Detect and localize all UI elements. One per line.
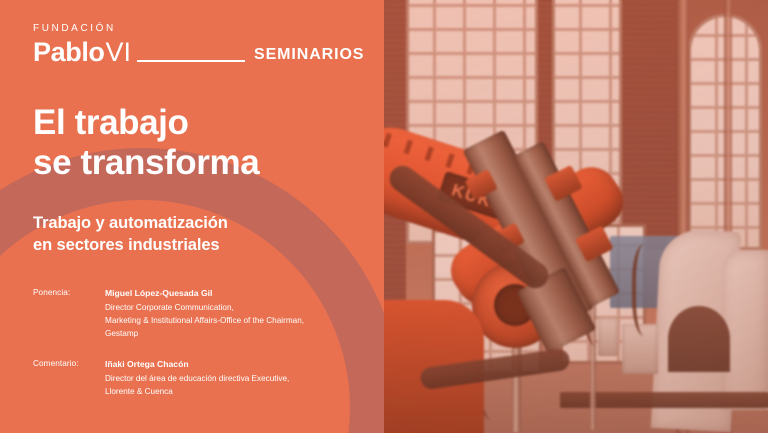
brand-logo-lockup: FUNDACIÓN Pablo VI SEMINARIOS bbox=[33, 24, 368, 66]
credits-section: Ponencia: Miguel López-Quesada Gil Direc… bbox=[33, 287, 370, 415]
credit-speaker-name: Iñaki Ortega Chacón bbox=[105, 358, 370, 371]
credit-detail-line: Llorente & Cuenca bbox=[105, 385, 370, 398]
poster-content: FUNDACIÓN Pablo VI SEMINARIOS El trabajo… bbox=[0, 0, 384, 433]
credit-speaker-name: Miguel López-Quesada Gil bbox=[105, 287, 370, 300]
credit-detail-line: Gestamp bbox=[105, 327, 370, 340]
logo-vi-text: VI bbox=[106, 39, 132, 66]
credit-detail-line: Marketing & Institutional Affairs-Office… bbox=[105, 314, 370, 327]
poster-photo-panel: KUKA bbox=[384, 0, 768, 433]
credit-entry-ponencia: Ponencia: Miguel López-Quesada Gil Direc… bbox=[33, 287, 370, 341]
wheel-arch-shadow bbox=[668, 306, 730, 372]
logo-pablo-text: Pablo bbox=[33, 39, 105, 66]
credit-detail-line: Director Corporate Communication, bbox=[105, 301, 370, 314]
credit-entry-comentario: Comentario: Iñaki Ortega Chacón Director… bbox=[33, 358, 370, 398]
logo-divider-rule bbox=[137, 60, 245, 62]
poster-headline: El trabajo se transforma bbox=[33, 103, 259, 183]
credit-detail-line: Director del área de educación directiva… bbox=[105, 372, 370, 385]
logo-fundacion-label: FUNDACIÓN bbox=[33, 24, 368, 34]
factory-photo: KUKA bbox=[384, 0, 768, 433]
credit-body-comentario: Iñaki Ortega Chacón Director del área de… bbox=[105, 358, 370, 398]
credit-label-ponencia: Ponencia: bbox=[33, 287, 105, 300]
seminar-poster: FUNDACIÓN Pablo VI SEMINARIOS El trabajo… bbox=[0, 0, 768, 433]
section-label-seminarios: SEMINARIOS bbox=[254, 47, 364, 63]
credit-body-ponencia: Miguel López-Quesada Gil Director Corpor… bbox=[105, 287, 370, 341]
poster-subtitle: Trabajo y automatización en sectores ind… bbox=[33, 213, 228, 257]
credit-label-comentario: Comentario: bbox=[33, 358, 105, 371]
logo-row: Pablo VI SEMINARIOS bbox=[33, 39, 368, 66]
poster-left-panel: FUNDACIÓN Pablo VI SEMINARIOS El trabajo… bbox=[0, 0, 384, 433]
